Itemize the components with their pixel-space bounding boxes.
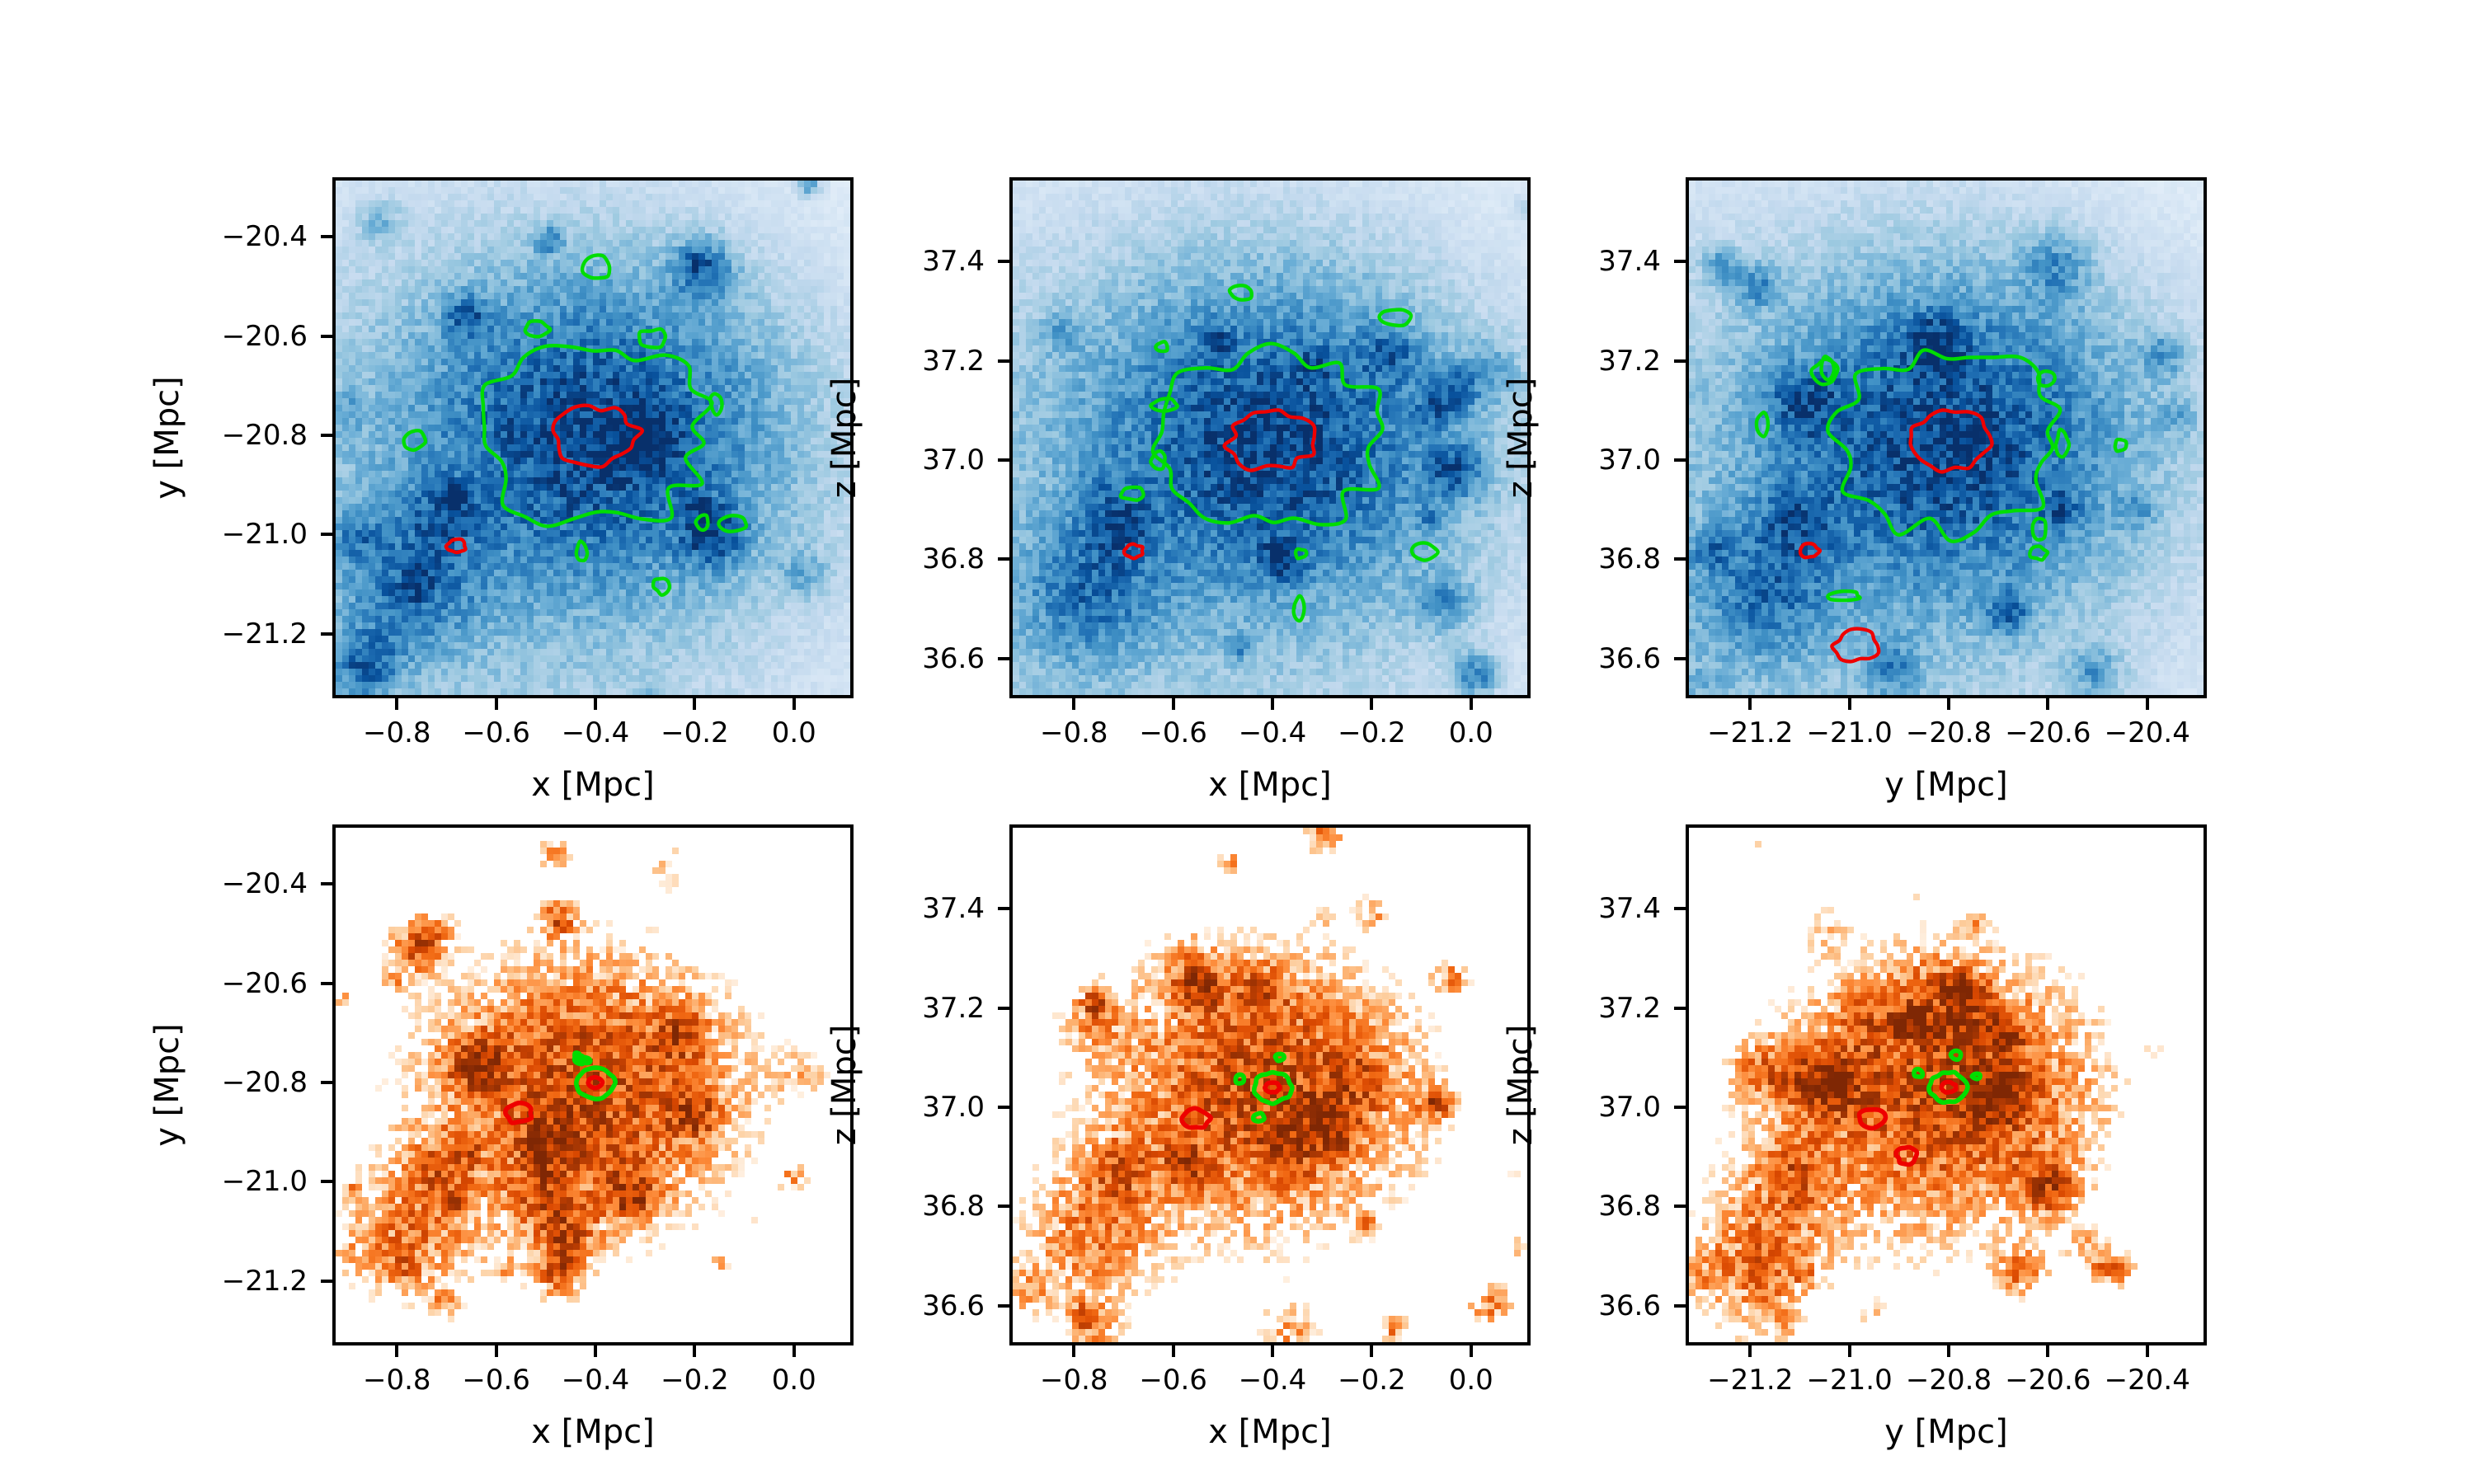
panel-top-left-ytick-mark <box>321 335 332 338</box>
panel-top-left-ytick-label: −21.2 <box>143 618 308 650</box>
panel-bottom-left-xaxis-title: x [Mpc] <box>531 1413 655 1451</box>
panel-top-left-green-contour-fragment <box>525 321 551 336</box>
panel-top-left-ytick-label: −20.6 <box>143 320 308 353</box>
panel-bottom-left-xtick-mark <box>693 1345 696 1357</box>
panel-top-left-green-contour-fragment <box>696 515 708 530</box>
panel-top-left-xaxis-title: x [Mpc] <box>531 766 655 804</box>
panel-top-mid-xaxis-title: x [Mpc] <box>1208 766 1332 804</box>
panel-top-mid-red-contour-inner <box>1225 410 1315 470</box>
panel-top-left-xtick-label: −0.2 <box>661 716 729 749</box>
panel-top-left-green-contour-fragment <box>582 255 609 278</box>
panel-top-left-ytick-mark <box>321 235 332 238</box>
panel-bottom-mid-ytick-label: 36.6 <box>820 1289 985 1322</box>
panel-bottom-left-ytick-label: −21.2 <box>143 1265 308 1298</box>
panel-bottom-right-ytick-mark <box>1674 1007 1686 1010</box>
panel-top-mid-xtick-mark <box>1072 698 1075 710</box>
panel-bottom-right-xaxis-title: y [Mpc] <box>1884 1413 2008 1451</box>
panel-top-left-ytick-label: −21.0 <box>143 518 308 551</box>
panel-top-mid-xtick-mark <box>1470 698 1473 710</box>
panel-bottom-mid-ytick-mark <box>998 1304 1009 1308</box>
panel-top-right-xtick-label: −20.4 <box>2105 716 2190 749</box>
panel-top-left-ytick-mark <box>321 434 332 437</box>
panel-bottom-left-xtick-label: −0.8 <box>363 1364 431 1397</box>
panel-top-left-xtick-label: −0.4 <box>562 716 630 749</box>
panel-bottom-mid-xtick-label: −0.8 <box>1040 1364 1108 1397</box>
panel-top-mid-green-contour-fragment <box>1230 285 1252 299</box>
panel-bottom-left-ytick-label: −20.4 <box>143 867 308 900</box>
panel-bottom-left-ytick-mark <box>321 882 332 885</box>
panel-top-mid-yaxis-title: z [Mpc] <box>825 355 863 520</box>
panel-bottom-right-xtick-mark <box>2146 1345 2149 1357</box>
panel-bottom-right-xtick-label: −21.0 <box>1807 1364 1893 1397</box>
panel-top-right-ytick-mark <box>1674 260 1686 263</box>
panel-top-mid-ytick-label: 36.8 <box>820 542 985 575</box>
panel-bottom-mid-ytick-mark <box>998 1106 1009 1109</box>
panel-top-right-ytick-label: 36.8 <box>1496 542 1661 575</box>
panel-top-right-ytick-label: 37.4 <box>1496 245 1661 278</box>
panel-top-mid-green-contour-fragment <box>1294 596 1305 621</box>
panel-top-left-ytick-label: −20.4 <box>143 220 308 253</box>
panel-top-mid-ytick-mark <box>998 458 1009 462</box>
panel-bottom-right-green-contour-fragment <box>1950 1050 1960 1059</box>
panel-top-mid-ytick-mark <box>998 359 1009 363</box>
panel-top-left-red-contour-satellite <box>446 539 466 552</box>
panel-top-mid-green-contour-fragment <box>1380 310 1411 326</box>
panel-bottom-right-xtick-mark <box>1947 1345 1950 1357</box>
panel-top-mid-ytick-mark <box>998 260 1009 263</box>
panel-bottom-mid-xtick-label: −0.6 <box>1139 1364 1207 1397</box>
panel-top-right-xtick-label: −20.6 <box>2005 716 2091 749</box>
panel-bottom-right-yaxis-title: z [Mpc] <box>1502 1003 1540 1167</box>
panel-bottom-right-xtick-label: −21.2 <box>1707 1364 1793 1397</box>
panel-top-right-ytick-label: 36.6 <box>1496 642 1661 675</box>
panel-bottom-mid-ytick-label: 36.8 <box>820 1190 985 1223</box>
panel-top-mid-contour-overlay <box>1013 181 1527 695</box>
panel-top-mid-ytick-label: 37.4 <box>820 245 985 278</box>
panel-top-mid-green-contour-outer <box>1153 344 1383 525</box>
panel-bottom-left-ytick-mark <box>321 1081 332 1084</box>
panel-top-left-ytick-mark <box>321 533 332 536</box>
panel-top-left-green-contour-fragment <box>576 541 587 560</box>
panel-bottom-left-ytick-mark <box>321 1280 332 1283</box>
panel-bottom-mid-xtick-label: −0.2 <box>1338 1364 1406 1397</box>
panel-top-mid-xtick-label: 0.0 <box>1449 716 1493 749</box>
panel-bottom-left-yaxis-title: y [Mpc] <box>148 1003 186 1167</box>
panel-bottom-mid-xtick-mark <box>1370 1345 1373 1357</box>
panel-top-mid-green-contour-fragment <box>1155 341 1167 351</box>
panel-top-right-xtick-mark <box>1748 698 1752 710</box>
panel-top-right-ytick-mark <box>1674 657 1686 660</box>
panel-top-right-ytick-mark <box>1674 458 1686 462</box>
panel-top-right-green-contour-fragment <box>2030 547 2048 561</box>
panel-top-mid-xtick-label: −0.4 <box>1239 716 1307 749</box>
panel-bottom-mid-green-contour-fragment <box>1235 1074 1244 1083</box>
panel-top-right-green-contour-fragment <box>1827 591 1860 600</box>
panel-top-right-xtick-mark <box>2046 698 2049 710</box>
panel-top-left-red-contour-inner <box>553 406 642 467</box>
panel-bottom-right-ytick-mark <box>1674 1106 1686 1109</box>
panel-bottom-left-xtick-mark <box>495 1345 498 1357</box>
panel-bottom-mid-yaxis-title: z [Mpc] <box>825 1003 863 1167</box>
panel-top-mid-xtick-label: −0.8 <box>1040 716 1108 749</box>
panel-bottom-mid-xtick-mark <box>1072 1345 1075 1357</box>
panel-bottom-right-ytick-label: 36.6 <box>1496 1289 1661 1322</box>
panel-top-mid-ytick-label: 36.6 <box>820 642 985 675</box>
panel-bottom-right-red-contour-inner <box>1941 1082 1955 1092</box>
panel-bottom-right-ytick-mark <box>1674 907 1686 910</box>
panel-bottom-mid-xaxis-title: x [Mpc] <box>1208 1413 1332 1451</box>
panel-bottom-right-green-contour-fragment <box>1914 1069 1922 1077</box>
panel-top-right-green-contour-fragment <box>2056 430 2069 457</box>
panel-bottom-left-ytick-mark <box>321 982 332 985</box>
panel-top-left-xtick-mark <box>693 698 696 710</box>
panel-top-left-green-contour-fragment <box>639 329 666 348</box>
panel-bottom-mid-xtick-mark <box>1172 1345 1175 1357</box>
panel-bottom-right-xtick-mark <box>2046 1345 2049 1357</box>
panel-top-right-red-contour-inner <box>1911 410 1992 472</box>
panel-top-left-green-contour-fragment <box>710 394 722 416</box>
panel-bottom-right-contour-overlay <box>1689 828 2204 1342</box>
panel-bottom-mid <box>1009 824 1531 1345</box>
panel-bottom-right-red-contour-satellite <box>1860 1110 1886 1129</box>
panel-top-right-xaxis-title: y [Mpc] <box>1884 766 2008 804</box>
panel-top-mid-ytick-mark <box>998 557 1009 561</box>
panel-bottom-mid-red-contour-satellite <box>1182 1108 1211 1127</box>
panel-top-mid-xtick-mark <box>1370 698 1373 710</box>
panel-top-left-xtick-label: 0.0 <box>772 716 816 749</box>
panel-top-mid-xtick-label: −0.2 <box>1338 716 1406 749</box>
panel-bottom-mid-green-contour-outer <box>1254 1073 1292 1104</box>
panel-bottom-right-green-contour-outer <box>1929 1072 1968 1102</box>
panel-bottom-right-green-contour-fragment <box>1972 1073 1980 1078</box>
panel-top-left-xtick-mark <box>793 698 796 710</box>
panel-bottom-right-xtick-label: −20.6 <box>2005 1364 2091 1397</box>
panel-bottom-left-ytick-label: −20.6 <box>143 967 308 1000</box>
panel-top-left-xtick-mark <box>495 698 498 710</box>
panel-bottom-left-xtick-label: −0.2 <box>661 1364 729 1397</box>
panel-top-right-xtick-label: −21.0 <box>1807 716 1893 749</box>
panel-top-mid-green-contour-fragment <box>1121 487 1144 500</box>
panel-top-right-red-contour-satellite <box>1800 543 1820 557</box>
panel-bottom-right <box>1686 824 2207 1345</box>
panel-bottom-right-ytick-label: 37.4 <box>1496 892 1661 925</box>
panel-top-mid-red-contour-satellite <box>1124 544 1143 559</box>
panel-top-left-xtick-mark <box>594 698 597 710</box>
panel-bottom-mid-ytick-mark <box>998 1007 1009 1010</box>
panel-bottom-left-contour-overlay <box>336 828 850 1342</box>
panel-bottom-right-ytick-mark <box>1674 1304 1686 1308</box>
panel-top-left-green-contour-fragment <box>404 430 426 450</box>
panel-top-right-yaxis-title: z [Mpc] <box>1502 355 1540 520</box>
panel-bottom-left-xtick-mark <box>793 1345 796 1357</box>
panel-top-left <box>332 177 854 698</box>
panel-top-mid-ytick-mark <box>998 657 1009 660</box>
panel-bottom-left-xtick-mark <box>594 1345 597 1357</box>
panel-top-left-green-contour-fragment <box>653 579 670 595</box>
panel-bottom-left-ytick-mark <box>321 1180 332 1183</box>
panel-bottom-right-ytick-mark <box>1674 1205 1686 1208</box>
panel-bottom-left-ytick-label: −21.0 <box>143 1165 308 1198</box>
panel-bottom-left-red-contour-satellite <box>506 1103 532 1123</box>
panel-bottom-mid-xtick-label: 0.0 <box>1449 1364 1493 1397</box>
panel-top-left-yaxis-title: y [Mpc] <box>148 355 186 520</box>
panel-top-mid-green-contour-fragment <box>1412 543 1438 561</box>
panel-bottom-mid-green-contour-fragment <box>1253 1113 1264 1121</box>
panel-top-right-green-contour-fragment <box>2115 439 2127 451</box>
panel-top-left-xtick-label: −0.8 <box>363 716 431 749</box>
panel-top-right <box>1686 177 2207 698</box>
panel-top-left-ytick-mark <box>321 632 332 636</box>
panel-top-mid-xtick-mark <box>1271 698 1274 710</box>
panel-top-right-green-contour-outer <box>1827 350 2060 541</box>
panel-top-right-green-contour-fragment <box>2033 519 2046 540</box>
panel-bottom-left <box>332 824 854 1345</box>
panel-top-right-red-contour-lower <box>1832 629 1879 662</box>
panel-top-left-xtick-mark <box>395 698 398 710</box>
panel-top-right-xtick-mark <box>1947 698 1950 710</box>
panel-bottom-left-xtick-label: 0.0 <box>772 1364 816 1397</box>
panel-bottom-right-xtick-mark <box>1848 1345 1851 1357</box>
panel-top-mid <box>1009 177 1531 698</box>
panel-bottom-left-xtick-mark <box>395 1345 398 1357</box>
panel-top-mid-xtick-label: −0.6 <box>1139 716 1207 749</box>
panel-top-left-green-contour-fragment <box>719 515 747 531</box>
panel-top-right-ytick-mark <box>1674 359 1686 363</box>
panel-bottom-mid-green-contour-fragment <box>1275 1054 1284 1060</box>
panel-top-left-xtick-label: −0.6 <box>462 716 530 749</box>
panel-bottom-left-red-contour-inner <box>588 1078 602 1088</box>
panel-bottom-right-xtick-label: −20.4 <box>2105 1364 2190 1397</box>
panel-top-right-xtick-mark <box>1848 698 1851 710</box>
panel-bottom-mid-ytick-mark <box>998 1205 1009 1208</box>
panel-top-right-xtick-mark <box>2146 698 2149 710</box>
panel-top-right-contour-overlay <box>1689 181 2204 695</box>
panel-top-right-green-contour-fragment <box>1757 412 1768 436</box>
panel-bottom-left-green-contour-outer <box>576 1068 615 1099</box>
panel-bottom-right-xtick-label: −20.8 <box>1906 1364 1992 1397</box>
panel-top-right-xtick-label: −21.2 <box>1707 716 1793 749</box>
panel-bottom-right-ytick-label: 36.8 <box>1496 1190 1661 1223</box>
panel-bottom-right-red-contour-lower <box>1896 1148 1917 1165</box>
panel-top-left-green-contour-outer <box>482 345 713 526</box>
panel-bottom-mid-xtick-label: −0.4 <box>1239 1364 1307 1397</box>
panel-bottom-mid-xtick-mark <box>1470 1345 1473 1357</box>
panel-bottom-mid-ytick-mark <box>998 907 1009 910</box>
panel-top-right-xtick-label: −20.8 <box>1906 716 1992 749</box>
panel-bottom-left-xtick-label: −0.6 <box>462 1364 530 1397</box>
panel-top-mid-green-contour-fragment <box>1296 549 1306 558</box>
panel-top-right-ytick-mark <box>1674 557 1686 561</box>
panel-top-left-contour-overlay <box>336 181 850 695</box>
panel-top-mid-xtick-mark <box>1172 698 1175 710</box>
panel-bottom-mid-contour-overlay <box>1013 828 1527 1342</box>
panel-bottom-mid-ytick-label: 37.4 <box>820 892 985 925</box>
panel-bottom-mid-red-contour-inner <box>1265 1082 1280 1092</box>
panel-bottom-mid-xtick-mark <box>1271 1345 1274 1357</box>
panel-bottom-left-xtick-label: −0.4 <box>562 1364 630 1397</box>
figure-canvas: −20.4−20.6−20.8−21.0−21.2−0.8−0.6−0.4−0.… <box>0 0 2474 1484</box>
panel-bottom-right-xtick-mark <box>1748 1345 1752 1357</box>
